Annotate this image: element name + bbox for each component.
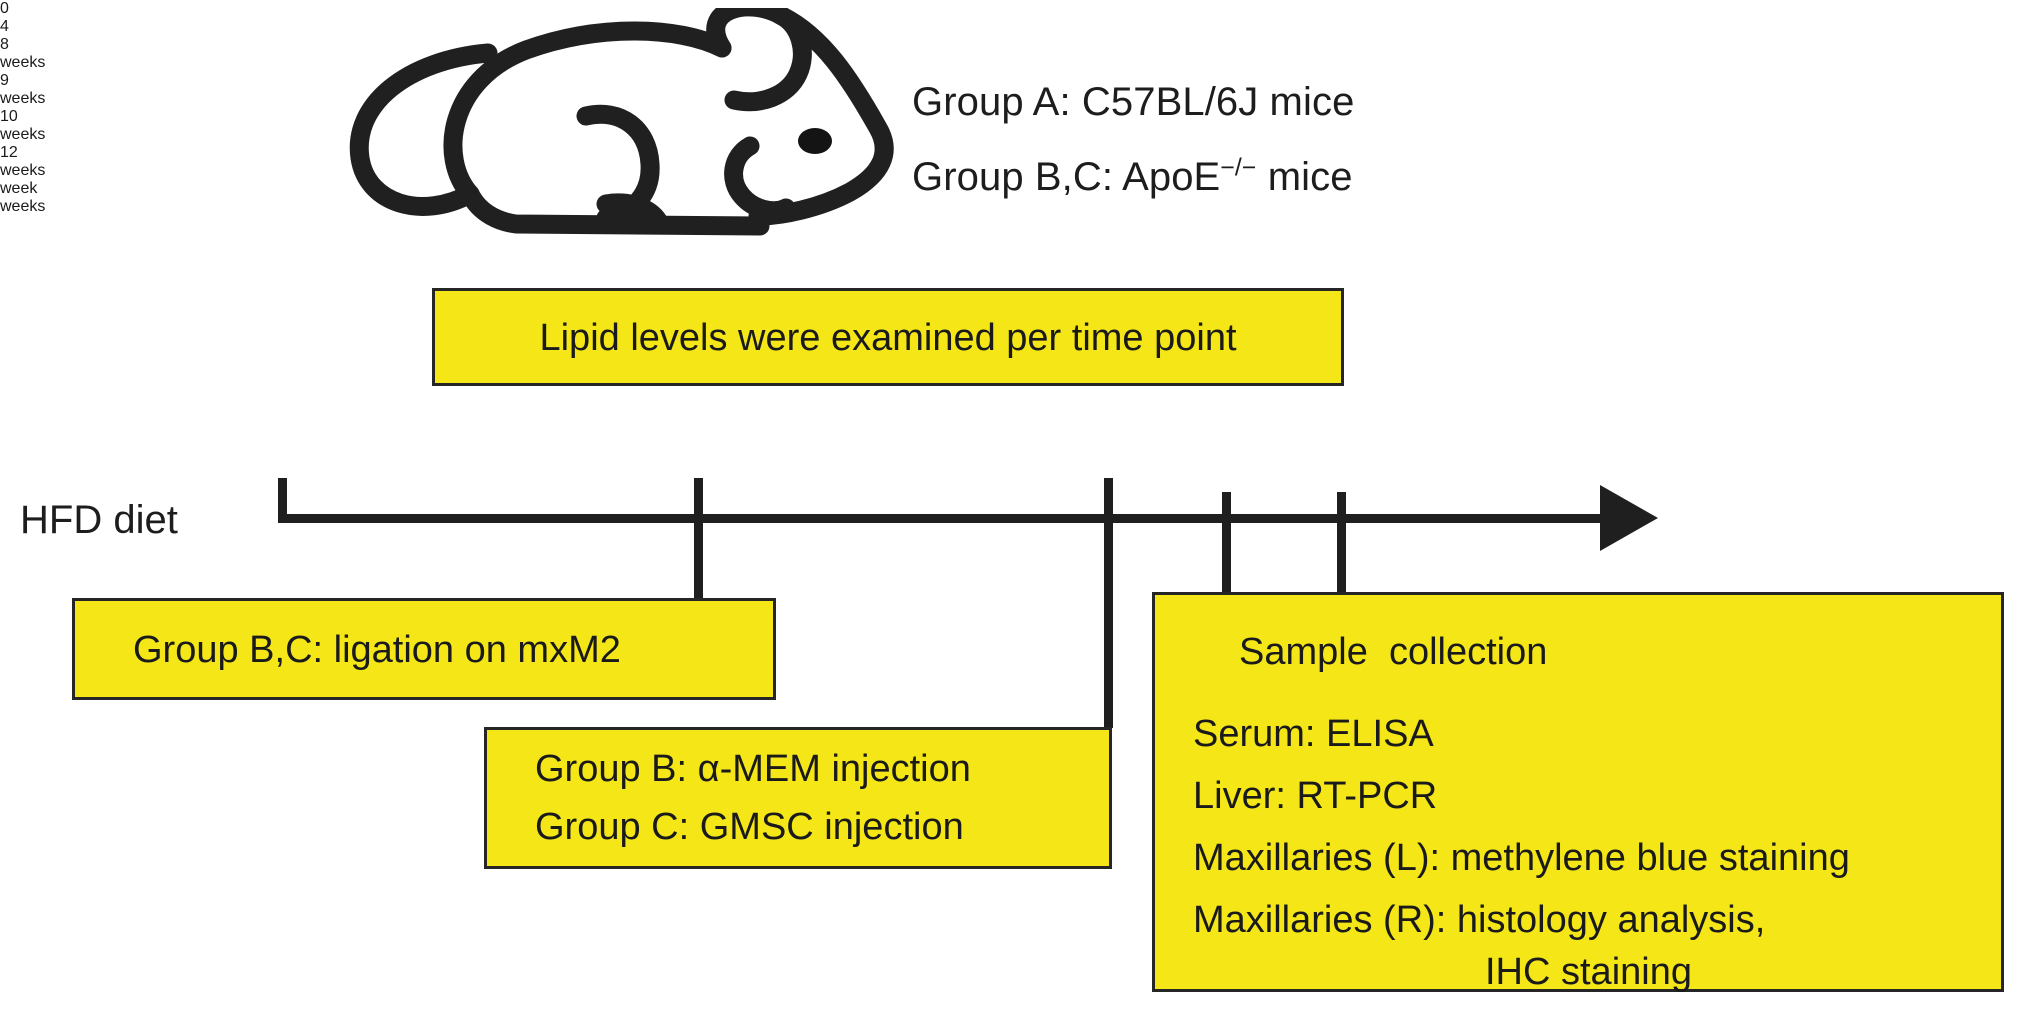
legend-group-bc: Group B,C: ApoE−/− mice bbox=[912, 155, 1353, 200]
timeline-axis bbox=[278, 514, 1626, 523]
ligation-label: Group B,C: ligation on mxM2 bbox=[133, 629, 621, 672]
tick-label-10-weeks-unit: weeks bbox=[0, 126, 2031, 144]
tick-label-8-weeks: 8 weeks bbox=[0, 36, 2031, 72]
lipid-levels-label: Lipid levels were examined per time poin… bbox=[435, 317, 1341, 360]
tick-mark-9-weeks bbox=[1222, 492, 1231, 594]
tick-label-4-weeks-unit: weeks bbox=[0, 198, 2031, 216]
tick-label-0-week: 0 bbox=[0, 0, 2031, 18]
sample-item-serum: Serum: ELISA bbox=[1193, 713, 1434, 756]
tick-label-4-weeks: 4 bbox=[0, 18, 2031, 36]
sample-item-ihc-staining: IHC staining bbox=[1485, 951, 1692, 994]
ligation-box: Group B,C: ligation on mxM2 bbox=[72, 598, 776, 700]
mouse-icon bbox=[330, 8, 910, 258]
mouse-eye-icon bbox=[798, 128, 832, 154]
tick-label-8-weeks-value: 8 bbox=[0, 36, 2031, 54]
experimental-timeline-figure: Group A: C57BL/6J mice Group B,C: ApoE−/… bbox=[0, 0, 2031, 1012]
hfd-diet-label: HFD diet bbox=[20, 498, 178, 543]
legend-group-bc-superscript: −/− bbox=[1220, 155, 1256, 182]
lipid-levels-box: Lipid levels were examined per time poin… bbox=[432, 288, 1344, 386]
sample-item-maxillaries-left: Maxillaries (L): methylene blue staining bbox=[1193, 837, 1850, 880]
tick-mark-10-weeks bbox=[1337, 492, 1346, 594]
tick-mark-8-weeks bbox=[1104, 478, 1113, 728]
tick-label-4-weeks-value: 4 bbox=[0, 18, 2031, 36]
tick-label-8-weeks-unit: weeks bbox=[0, 54, 2031, 72]
legend-group-bc-suffix: mice bbox=[1257, 155, 1353, 199]
sample-collection-title: Sample collection bbox=[1239, 631, 1547, 674]
arrow-right-icon bbox=[1600, 485, 1658, 551]
sample-item-liver: Liver: RT-PCR bbox=[1193, 775, 1437, 818]
injection-group-c-label: Group C: GMSC injection bbox=[535, 806, 964, 849]
tick-label-4-weeks-unit-wrap: weeks bbox=[0, 198, 2031, 216]
legend-group-a: Group A: C57BL/6J mice bbox=[912, 80, 1354, 125]
tick-mark-0-week bbox=[278, 478, 287, 518]
legend-group-bc-prefix: Group B,C: ApoE bbox=[912, 155, 1220, 199]
sample-item-maxillaries-right: Maxillaries (R): histology analysis, bbox=[1193, 899, 1765, 942]
injection-group-b-label: Group B: α-MEM injection bbox=[535, 748, 971, 791]
injection-box: Group B: α-MEM injection Group C: GMSC i… bbox=[484, 727, 1112, 869]
sample-collection-box: Sample collection Serum: ELISA Liver: RT… bbox=[1152, 592, 2004, 992]
tick-label-0-week-value: 0 bbox=[0, 0, 2031, 18]
